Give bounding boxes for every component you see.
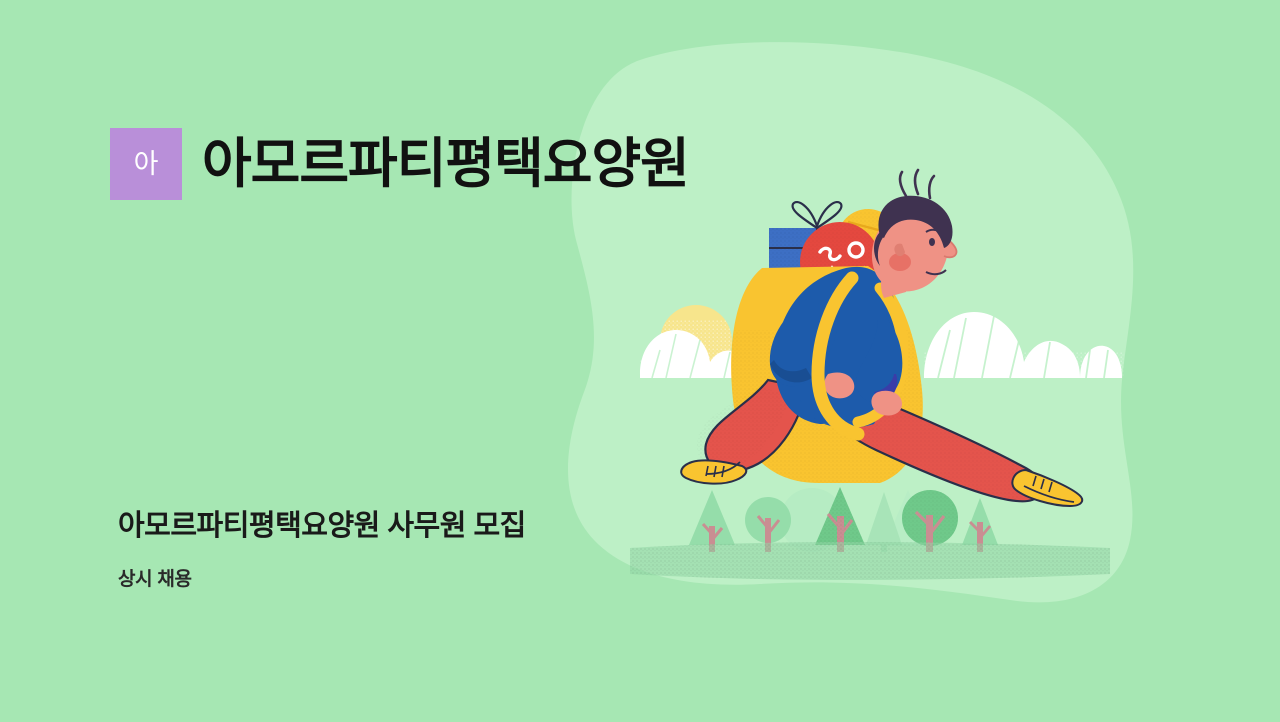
cloud-right-icon (924, 312, 1124, 378)
tree-row (689, 487, 998, 552)
company-header: 아 아모르파티평택요양원 (110, 128, 689, 200)
company-logo-badge[interactable]: 아 (110, 128, 182, 200)
gift-ball-red-icon (798, 220, 884, 306)
runner-back-arm (770, 296, 854, 398)
tree-item (689, 490, 735, 552)
tree-item (902, 490, 958, 552)
company-logo-initial: 아 (134, 151, 159, 178)
tree-item (815, 487, 865, 552)
job-summary-block: 아모르파티평택요양원 사무원 모집 상시 채용 (118, 508, 526, 593)
gift-sphere-yellow-icon (837, 209, 899, 271)
background-blob (568, 42, 1133, 602)
runner-head (872, 170, 957, 298)
tree-item (866, 492, 902, 552)
runner-front-leg (810, 380, 1082, 510)
runner-torso (775, 267, 903, 428)
illustration-running-person-with-gifts (0, 0, 1280, 722)
backpack-strap (818, 278, 903, 434)
job-posting-title: 아모르파티평택요양원 사무원 모집 (118, 508, 526, 544)
job-posting-banner: 아 아모르파티평택요양원 아모르파티평택요양원 사무원 모집 상시 채용 (0, 0, 1280, 722)
sun-icon (660, 305, 740, 380)
ground-texture (630, 542, 1110, 580)
tree-item (962, 498, 998, 552)
backpack-yellow-icon (720, 266, 940, 490)
tree-item (745, 497, 791, 552)
cloud-left-icon (640, 330, 790, 378)
job-recruit-status: 상시 채용 (118, 568, 526, 593)
runner-front-arm (856, 320, 902, 416)
company-name-title: 아모르파티평택요양원 (202, 136, 689, 193)
gift-box-blue-icon (769, 202, 865, 310)
runner-back-leg (681, 380, 830, 484)
